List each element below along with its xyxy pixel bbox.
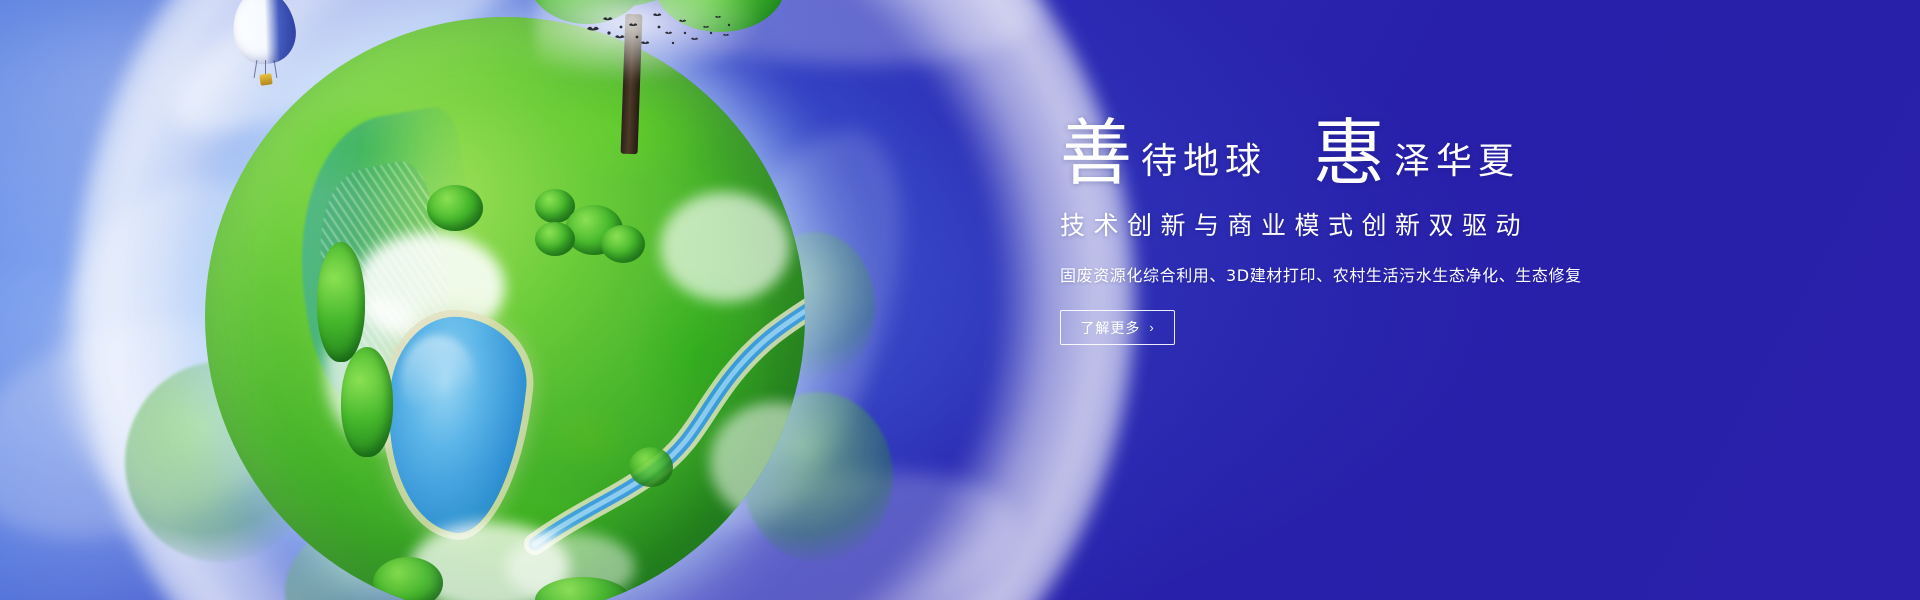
headline-big-char-1: 善: [1060, 120, 1132, 186]
lake-icon: [376, 311, 533, 539]
bush-icon: [317, 242, 365, 362]
hero-banner: 善 待地球 惠 泽华夏 技术创新与商业模式创新双驱动 固废资源化综合利用、3D建…: [0, 0, 1920, 600]
bush-icon: [565, 205, 623, 255]
green-tiny-planet-artwork: [155, 0, 875, 600]
surface-cloud: [410, 522, 570, 600]
river-icon: [505, 272, 805, 562]
headline-small-text-1: 待地球: [1141, 143, 1267, 186]
hero-content: 善 待地球 惠 泽华夏 技术创新与商业模式创新双驱动 固废资源化综合利用、3D建…: [1060, 120, 1620, 345]
headline: 善 待地球 惠 泽华夏: [1060, 120, 1620, 186]
balloon-envelope: [228, 0, 300, 68]
bush-icon: [427, 185, 483, 231]
bush-icon: [629, 447, 673, 487]
mountain-ridge: [275, 104, 504, 431]
surface-cloud: [710, 402, 805, 522]
bush-icon: [341, 347, 393, 457]
surface-cloud: [325, 297, 435, 447]
headline-phrase-2: 惠 泽华夏: [1313, 120, 1520, 186]
bush-icon: [535, 222, 575, 256]
subtitle: 技术创新与商业模式创新双驱动: [1060, 206, 1620, 242]
balloon-basket: [259, 73, 272, 86]
hot-air-balloon-icon: [233, 0, 303, 100]
headline-phrase-1: 善 待地球: [1060, 120, 1267, 186]
headline-small-text-2: 泽华夏: [1394, 143, 1520, 186]
description: 固废资源化综合利用、3D建材打印、农村生活污水生态净化、生态修复: [1060, 262, 1620, 286]
bush-icon: [535, 189, 575, 223]
surface-cloud: [355, 232, 505, 342]
headline-big-char-2: 惠: [1313, 120, 1385, 186]
bush-icon: [601, 225, 645, 263]
bush-icon: [535, 577, 631, 600]
bird-flock-icon: [585, 7, 735, 55]
learn-more-label: 了解更多: [1080, 318, 1140, 338]
bush-icon: [373, 557, 443, 600]
lake-highlight: [401, 335, 475, 423]
surface-cloud: [505, 532, 635, 600]
surface-cloud: [660, 192, 790, 302]
chevron-right-icon: ›: [1149, 320, 1154, 335]
learn-more-button[interactable]: 了解更多 ›: [1060, 310, 1175, 345]
mountain-ridge-texture: [304, 157, 463, 378]
